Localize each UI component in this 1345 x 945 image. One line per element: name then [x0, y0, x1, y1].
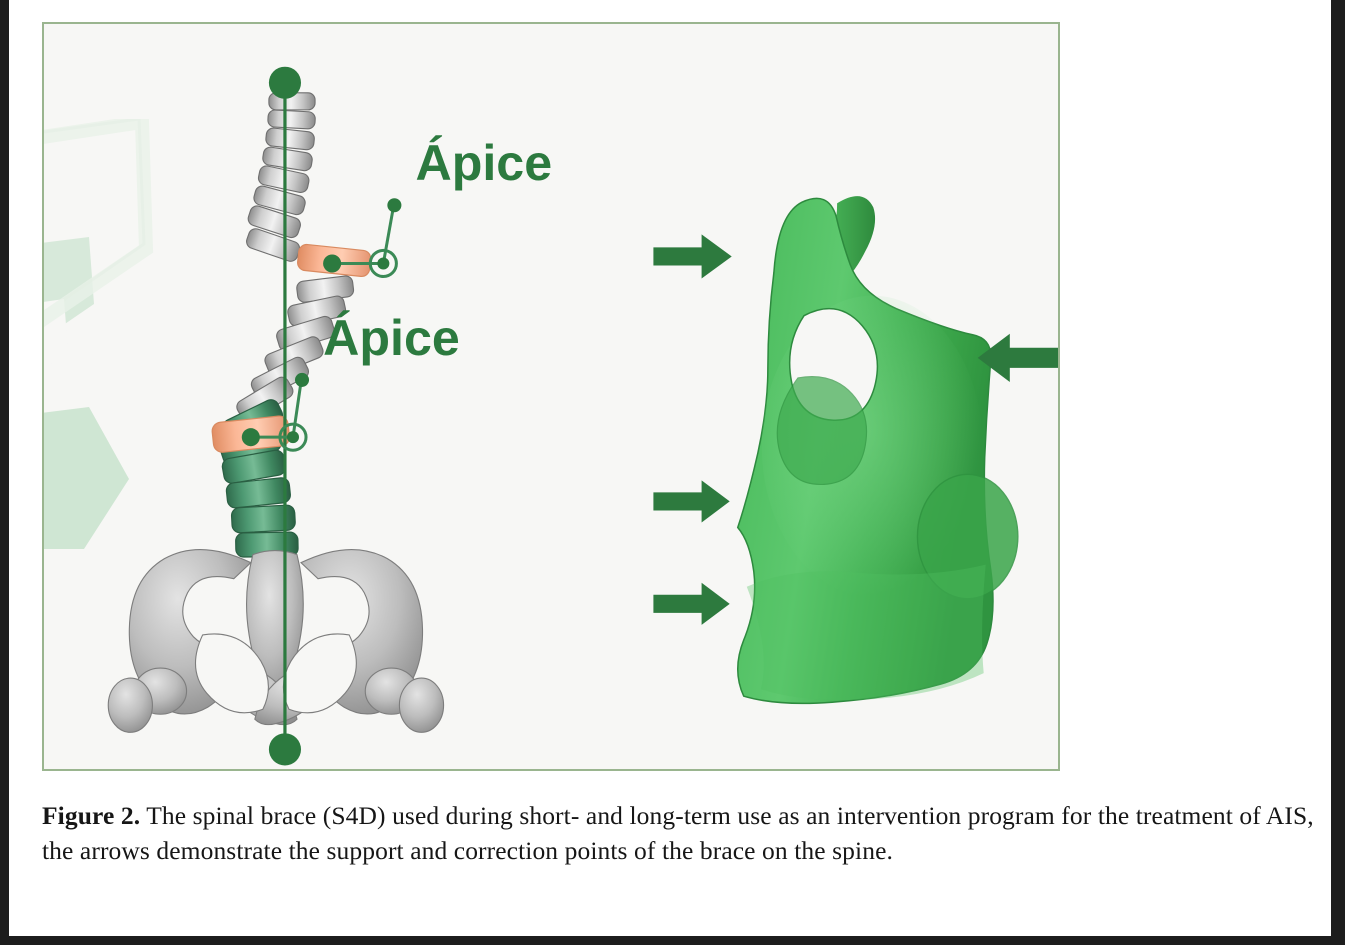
figure-caption-text: The spinal brace (S4D) used during short…	[42, 801, 1314, 865]
brace-3d-model	[738, 196, 1018, 703]
page-edge-left	[0, 0, 9, 945]
figure-image-frame: Ápice Ápice	[42, 22, 1060, 771]
vertebrae-grey-upper	[245, 93, 316, 263]
plumb-line-top-dot	[269, 67, 301, 99]
spine-coronal-diagram: Ápice Ápice	[44, 24, 1058, 769]
arrow-lumbar-left-icon	[653, 480, 729, 522]
arrow-thoracic-left-icon	[653, 234, 731, 278]
apex-marker-thoracic	[323, 198, 401, 276]
plumb-line-bottom-dot	[269, 733, 301, 765]
apex-label-thoracic: Ápice	[415, 135, 552, 191]
figure-number: Figure 2.	[42, 801, 140, 830]
page-edge-bottom	[0, 936, 1345, 945]
apex-label-lumbar: Ápice	[323, 310, 460, 366]
figure-caption: Figure 2. The spinal brace (S4D) used du…	[42, 798, 1332, 868]
page-edge-right	[1331, 0, 1345, 945]
document-page: Ápice Ápice	[9, 0, 1331, 936]
arrow-pelvic-left-icon	[653, 583, 729, 625]
pelvis-bone	[108, 550, 443, 733]
vertebrae-green-lumbar-lower	[221, 449, 298, 557]
